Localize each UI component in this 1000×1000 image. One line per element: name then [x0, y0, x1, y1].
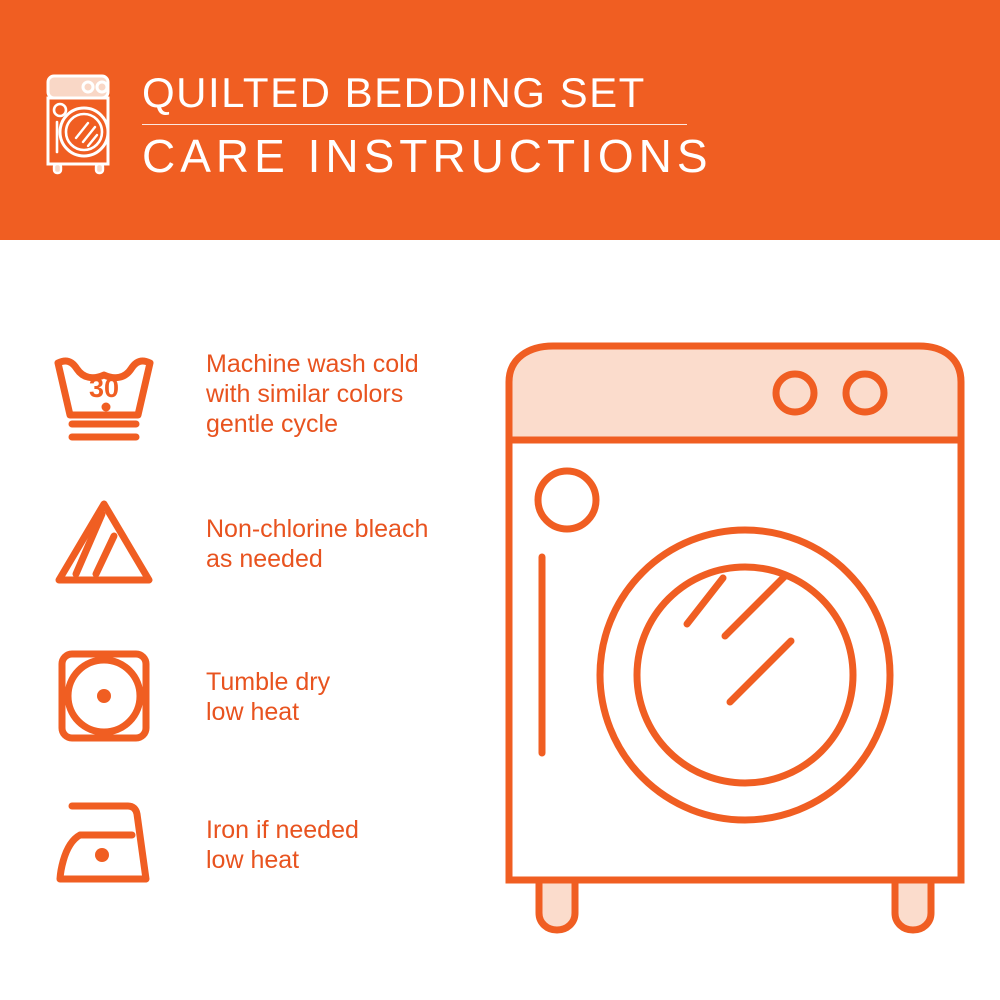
- care-text-bleach: Non-chlorine bleach as needed: [206, 492, 428, 574]
- leg-left: [539, 880, 575, 930]
- header-title-group: QUILTED BEDDING SET CARE INSTRUCTIONS: [142, 70, 742, 181]
- front-load-washing-machine-illustration: [495, 330, 975, 940]
- wash-tub-30-icon: 30: [50, 345, 158, 445]
- header-banner: QUILTED BEDDING SET CARE INSTRUCTIONS: [0, 0, 1000, 240]
- leg-right: [895, 880, 931, 930]
- tumble-dry-low-icon: [50, 645, 158, 745]
- knob-right-icon: [846, 374, 884, 412]
- care-row-machine-wash: 30 Machine wash cold with similar colors…: [50, 345, 480, 445]
- care-text-tumble-dry: Tumble dry low heat: [206, 645, 330, 727]
- care-text-iron: Iron if needed low heat: [206, 793, 359, 875]
- iron-low-icon: [50, 793, 158, 893]
- machine-body: [509, 440, 961, 880]
- care-instructions-infographic: QUILTED BEDDING SET CARE INSTRUCTIONS 30…: [0, 0, 1000, 1000]
- care-row-tumble-dry: Tumble dry low heat: [50, 645, 480, 745]
- care-row-iron: Iron if needed low heat: [50, 793, 480, 893]
- care-text-machine-wash: Machine wash cold with similar colors ge…: [206, 345, 419, 439]
- title-divider: [142, 124, 687, 125]
- control-panel: [509, 346, 961, 440]
- care-row-bleach: Non-chlorine bleach as needed: [50, 492, 480, 592]
- wash-temperature-value: 30: [89, 373, 119, 403]
- knob-left-icon: [776, 374, 814, 412]
- page-title-primary: QUILTED BEDDING SET: [142, 70, 742, 116]
- page-title-secondary: CARE INSTRUCTIONS: [142, 131, 742, 181]
- bleach-triangle-icon: [50, 492, 158, 592]
- washing-machine-icon: [44, 72, 116, 176]
